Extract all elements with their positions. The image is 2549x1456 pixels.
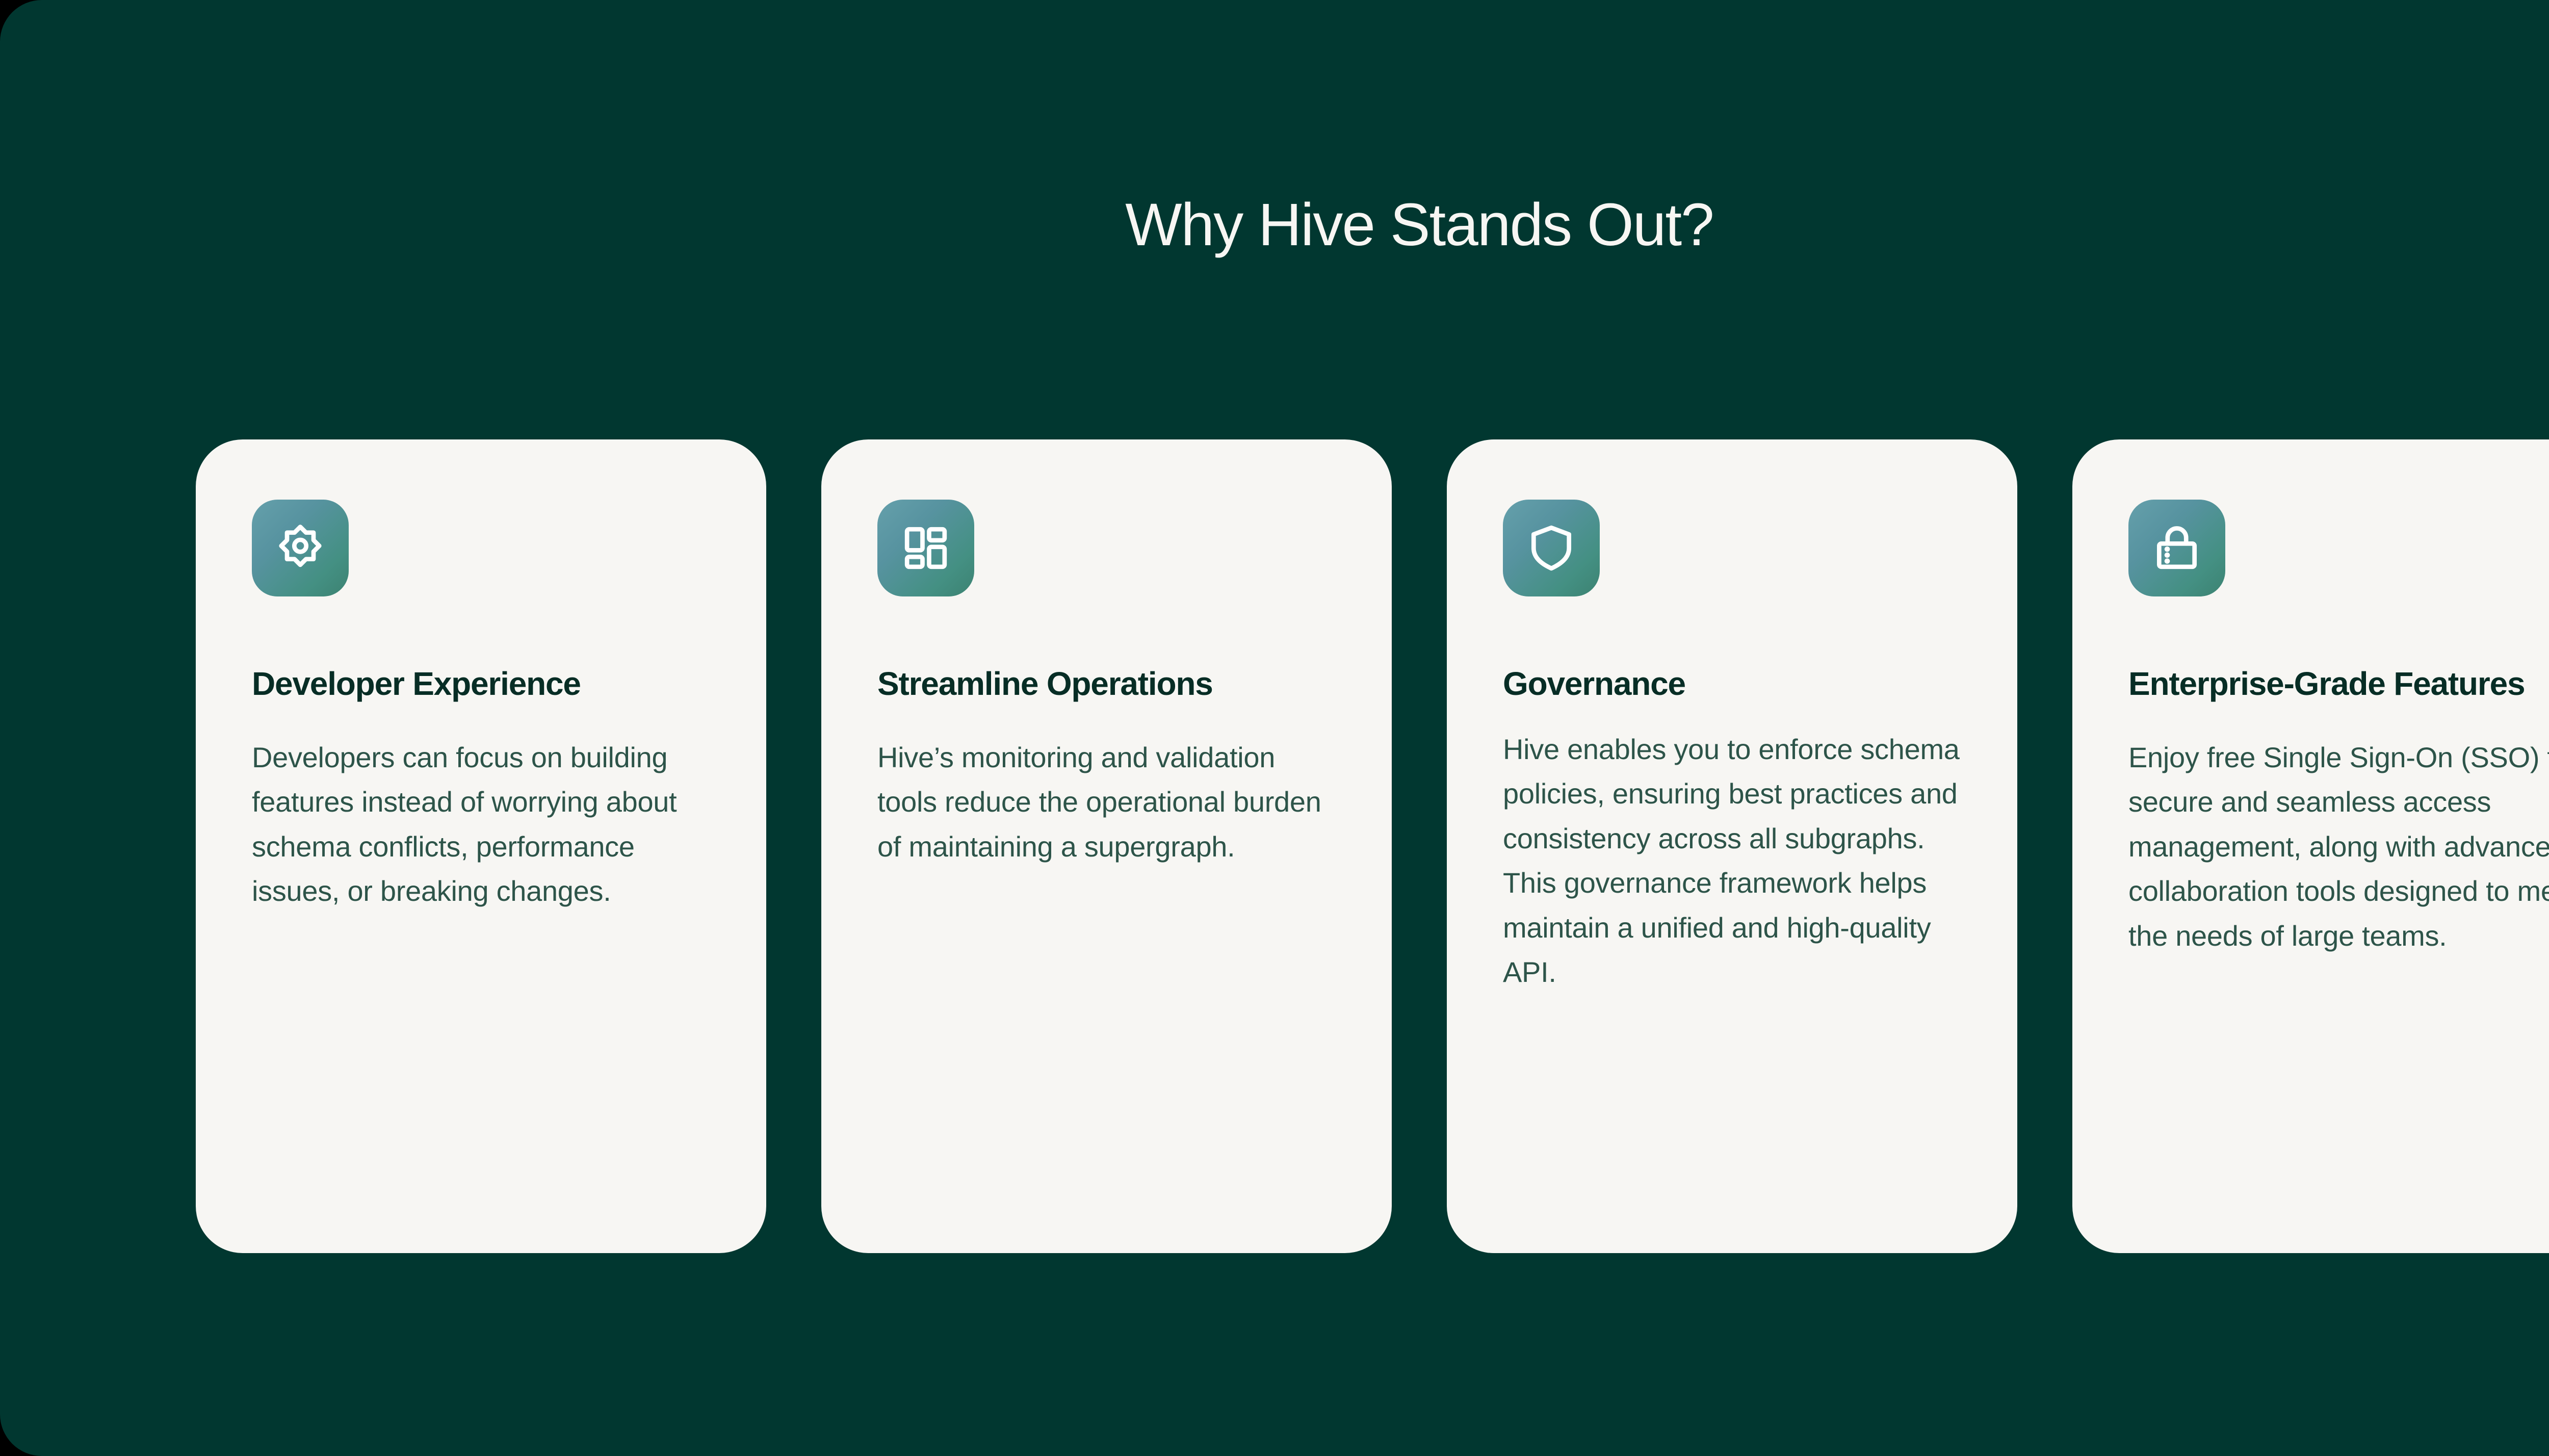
layout-grid-icon	[877, 500, 974, 596]
feature-card-heading: Streamline Operations	[877, 664, 1336, 704]
feature-card[interactable]: Enterprise-Grade Features Enjoy free Sin…	[2072, 439, 2549, 1253]
feature-card-body: Hive enables you to enforce schema polic…	[1503, 727, 1961, 994]
feature-card[interactable]: Streamline Operations Hive’s monitoring …	[821, 439, 1392, 1253]
feature-card-body: Hive’s monitoring and validation tools r…	[877, 735, 1336, 869]
feature-card-heading: Enterprise-Grade Features	[2128, 664, 2549, 704]
feature-card-body: Enjoy free Single Sign-On (SSO) for secu…	[2128, 735, 2549, 958]
feature-card[interactable]: Governance Hive enables you to enforce s…	[1447, 439, 2017, 1253]
feature-card-body: Developers can focus on building feature…	[252, 735, 710, 913]
feature-card-grid: Developer Experience Developers can focu…	[196, 439, 2549, 1253]
feature-card-heading: Governance	[1503, 664, 1961, 704]
feature-card-heading: Developer Experience	[252, 664, 710, 704]
page-title: Why Hive Stands Out?	[0, 195, 2549, 255]
lock-icon	[2128, 500, 2225, 596]
shield-icon	[1503, 500, 1600, 596]
page-root: Why Hive Stands Out? Developer Experienc…	[0, 0, 2549, 1456]
feature-card[interactable]: Developer Experience Developers can focu…	[196, 439, 766, 1253]
gear-icon	[252, 500, 349, 596]
